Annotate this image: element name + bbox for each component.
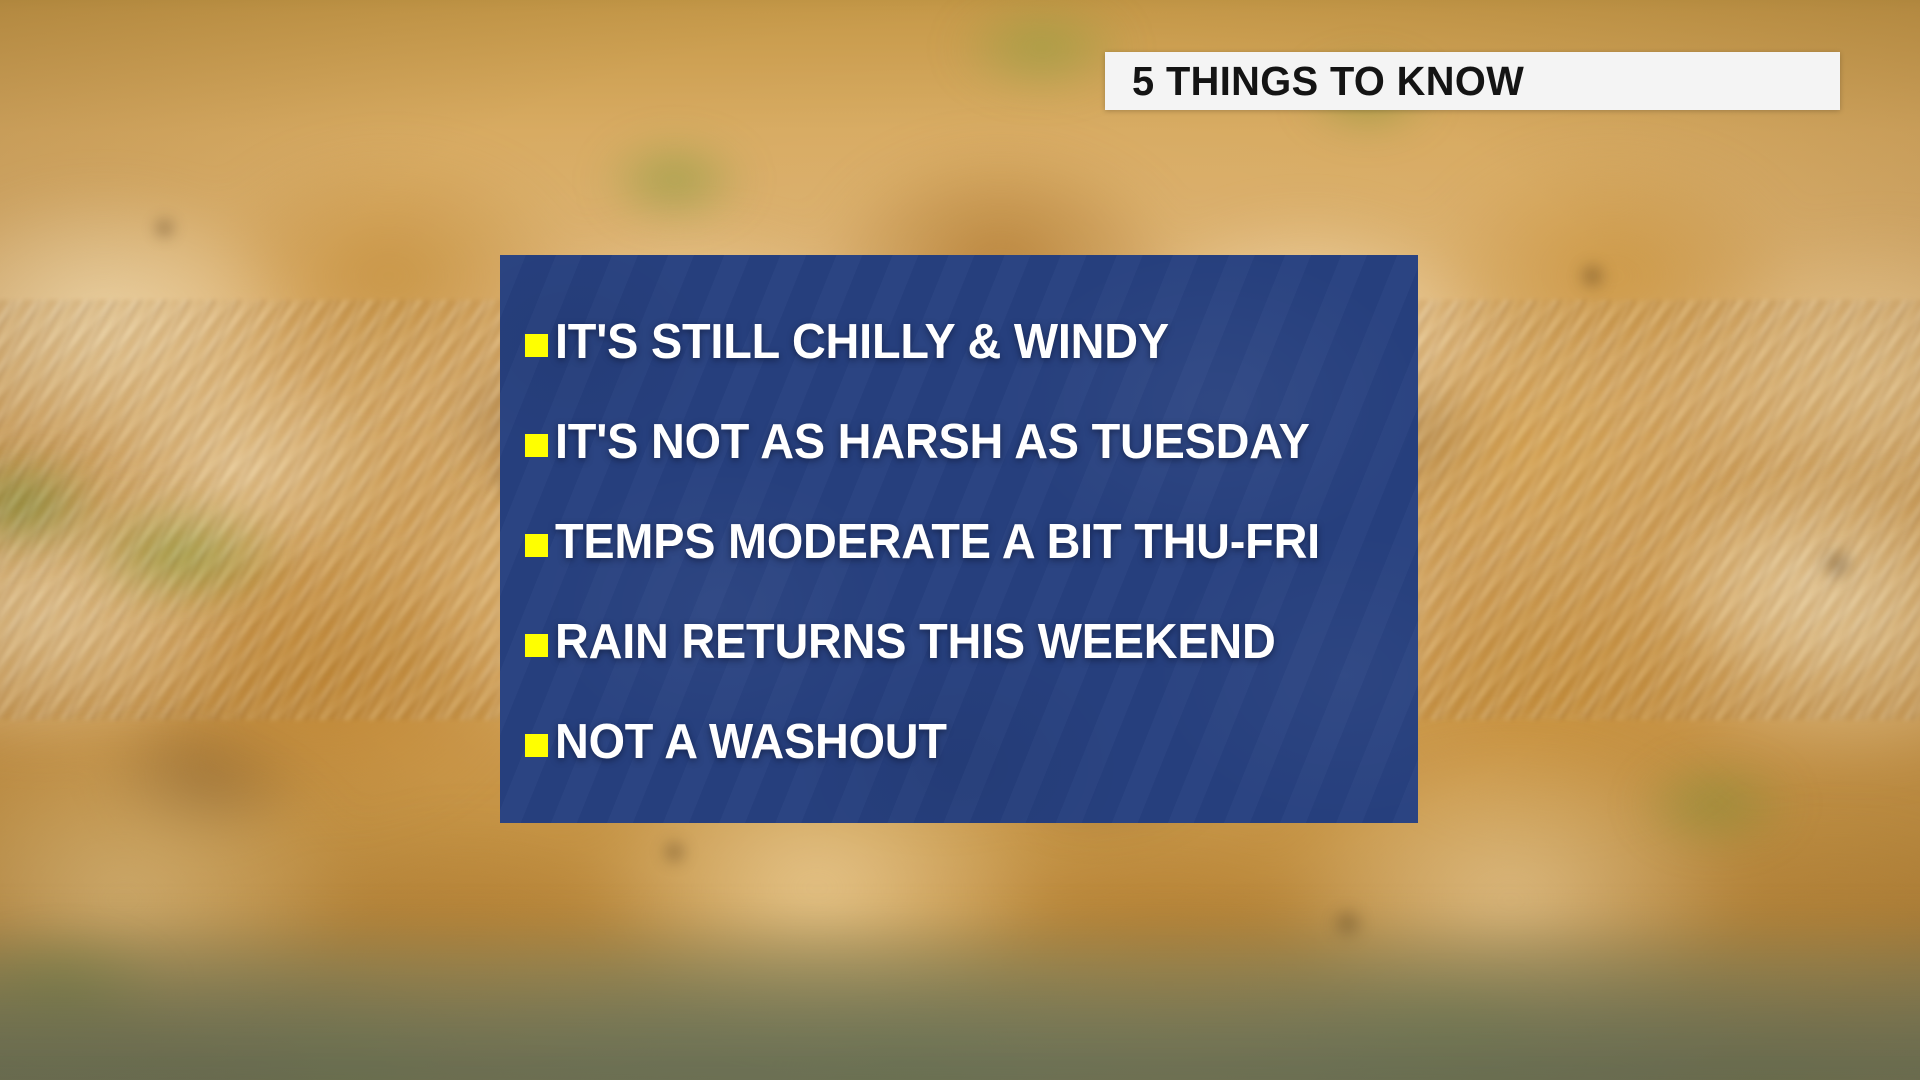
things-to-know-panel: IT'S STILL CHILLY & WINDY IT'S NOT AS HA… — [500, 255, 1418, 823]
list-item-label: IT'S NOT AS HARSH AS TUESDAY — [555, 418, 1310, 467]
list-item-label: IT'S STILL CHILLY & WINDY — [555, 318, 1169, 367]
yellow-square-bullet-icon — [525, 734, 548, 757]
page-title: 5 THINGS TO KNOW — [1132, 61, 1524, 102]
list-item-label: TEMPS MODERATE A BIT THU-FRI — [555, 518, 1320, 567]
list-item: TEMPS MODERATE A BIT THU-FRI — [500, 492, 1418, 592]
yellow-square-bullet-icon — [525, 534, 548, 557]
list-item: NOT A WASHOUT — [500, 692, 1418, 792]
yellow-square-bullet-icon — [525, 434, 548, 457]
yellow-square-bullet-icon — [525, 634, 548, 657]
header-banner: 5 THINGS TO KNOW — [1105, 52, 1840, 110]
yellow-square-bullet-icon — [525, 334, 548, 357]
things-to-know-list: IT'S STILL CHILLY & WINDY IT'S NOT AS HA… — [500, 255, 1418, 792]
weather-graphic-stage: 5 THINGS TO KNOW IT'S STILL CHILLY & WIN… — [0, 0, 1920, 1080]
list-item: IT'S STILL CHILLY & WINDY — [500, 292, 1418, 392]
list-item: IT'S NOT AS HARSH AS TUESDAY — [500, 392, 1418, 492]
list-item-label: RAIN RETURNS THIS WEEKEND — [555, 618, 1276, 667]
list-item-label: NOT A WASHOUT — [555, 718, 947, 767]
list-item: RAIN RETURNS THIS WEEKEND — [500, 592, 1418, 692]
